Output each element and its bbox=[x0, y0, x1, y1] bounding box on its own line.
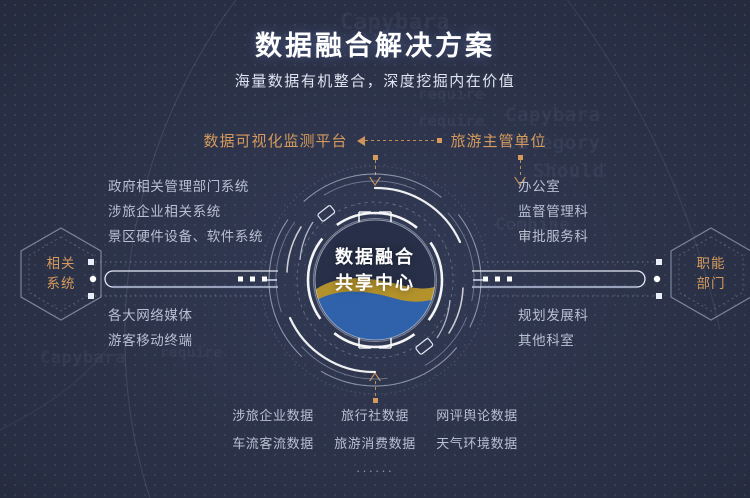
grid-cell[interactable]: 旅游消费数据 bbox=[327, 433, 423, 452]
grid-cell[interactable]: 网评舆论数据 bbox=[429, 405, 525, 424]
page-subtitle: 海量数据有机整合，深度挖掘内在价值 bbox=[0, 70, 750, 91]
list-item[interactable]: 游客移动终端 bbox=[108, 328, 193, 353]
hexagon-left-line1: 相关 bbox=[47, 254, 76, 274]
grid-cell[interactable]: 车流客流数据 bbox=[225, 433, 321, 452]
list-item[interactable]: 各大网络媒体 bbox=[108, 303, 193, 328]
label-visualization-platform[interactable]: 数据可视化监测平台 bbox=[203, 130, 347, 151]
list-item[interactable]: 景区硬件设备、软件系统 bbox=[108, 224, 263, 249]
page-title: 数据融合解决方案 bbox=[0, 24, 750, 63]
hexagon-right-line1: 职能 bbox=[697, 254, 726, 274]
hexagon-left-line2: 系统 bbox=[47, 274, 76, 294]
background-code-text: require bbox=[418, 112, 485, 130]
grid-cell[interactable]: 旅行社数据 bbox=[327, 405, 423, 424]
list-item[interactable]: 规划发展科 bbox=[518, 303, 589, 328]
grid-cell[interactable]: 天气环境数据 bbox=[429, 433, 525, 452]
grid-cell[interactable]: 涉旅企业数据 bbox=[225, 405, 321, 424]
infographic-canvas: require require Capybara Category Should… bbox=[0, 0, 750, 498]
bottom-ellipsis: ······ bbox=[0, 463, 750, 478]
top-label-row: 数据可视化监测平台 旅游主管单位 bbox=[0, 130, 750, 151]
list-left-top: 政府相关管理部门系统 涉旅企业相关系统 景区硬件设备、软件系统 bbox=[108, 174, 263, 249]
list-right-top: 办公室 监督管理科 审批服务科 bbox=[518, 174, 589, 249]
list-item[interactable]: 涉旅企业相关系统 bbox=[108, 199, 263, 224]
list-item[interactable]: 政府相关管理部门系统 bbox=[108, 174, 263, 199]
list-item[interactable]: 办公室 bbox=[518, 174, 589, 199]
list-left-bottom: 各大网络媒体 游客移动终端 bbox=[108, 303, 193, 353]
hexagon-right-line2: 部门 bbox=[697, 274, 726, 294]
bottom-grid-row: 车流客流数据 旅游消费数据 天气环境数据 bbox=[225, 433, 525, 452]
list-item[interactable]: 监督管理科 bbox=[518, 199, 589, 224]
hexagon-right-text: 职能 部门 bbox=[668, 226, 750, 322]
data-fusion-hub[interactable]: 数据融合 共享中心 bbox=[255, 160, 495, 400]
list-item[interactable]: 审批服务科 bbox=[518, 224, 589, 249]
dashed-line bbox=[365, 140, 437, 141]
square-dot-icon bbox=[437, 138, 442, 143]
bottom-grid-row: 涉旅企业数据 旅行社数据 网评舆论数据 bbox=[225, 405, 525, 424]
dotted-arrow-connector bbox=[357, 136, 442, 146]
list-right-bottom: 规划发展科 其他科室 bbox=[518, 303, 589, 353]
arrow-left-icon bbox=[357, 136, 365, 146]
hexagon-functional-departments[interactable]: 职能 部门 bbox=[668, 226, 750, 322]
bottom-data-grid: 涉旅企业数据 旅行社数据 网评舆论数据 车流客流数据 旅游消费数据 天气环境数据 bbox=[225, 405, 525, 461]
background-code-text: Capybara bbox=[505, 104, 601, 126]
list-item[interactable]: 其他科室 bbox=[518, 328, 589, 353]
label-tourism-authority[interactable]: 旅游主管单位 bbox=[451, 130, 547, 151]
center-rings-graphic bbox=[255, 160, 495, 400]
connector-pipe-left bbox=[88, 252, 278, 306]
connector-pipe-right bbox=[472, 252, 662, 306]
